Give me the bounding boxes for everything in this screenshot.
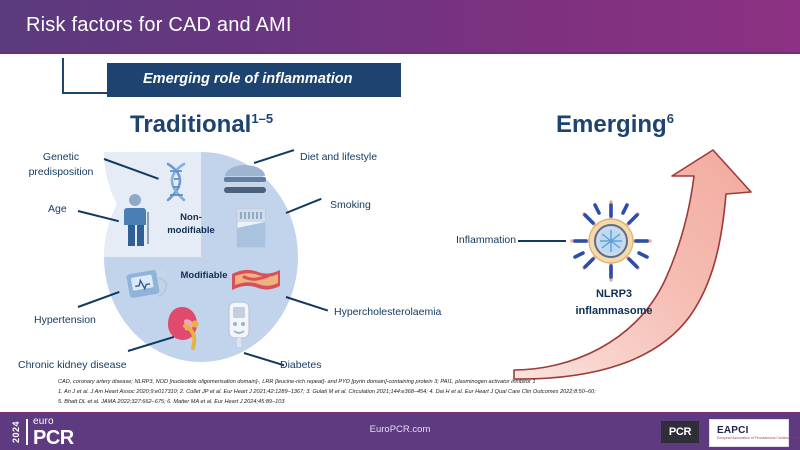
callout-hypertension-label: Hypertension <box>34 314 96 326</box>
callout-diet-and-lifestyle: Diet and lifestyle <box>300 150 377 165</box>
callout-smoking-label: Smoking <box>330 199 371 211</box>
nlrp3-inflammasome-label: NLRP3 inflammasome <box>556 286 672 319</box>
callout-diet-label: Diet and lifestyle <box>300 151 377 163</box>
banner-bracket <box>62 58 110 94</box>
callout-inflammation: Inflammation <box>456 233 516 248</box>
heading-emerging-refs: 6 <box>667 111 674 126</box>
callout-smoking: Smoking <box>330 198 371 213</box>
leader-line-inflammation <box>518 240 566 242</box>
dna-icon <box>156 160 196 208</box>
eapci-sublabel: European Association of Percutaneous Car… <box>717 437 800 440</box>
callout-hypercholesterolaemia: Hypercholesterolaemia <box>334 305 441 320</box>
footnote-abbreviations: CAD, coronary artery disease; NLRP3, NOD… <box>58 378 784 388</box>
callout-inflammation-label: Inflammation <box>456 234 516 246</box>
segment-label-non-modifiable: Non-modifiable <box>156 212 226 238</box>
section-banner: Emerging role of inflammation <box>107 63 401 97</box>
footnote-references-2: 5. Bhatt DL et al. JAMA 2022;327:662–675… <box>58 398 784 408</box>
nlrp3-line-1: NLRP3 <box>556 286 672 303</box>
pcr-logo-small: PCR <box>661 421 699 443</box>
inflammasome-icon <box>566 196 656 286</box>
callout-genetic-label: Geneticpredisposition <box>29 151 94 178</box>
heading-emerging: Emerging6 <box>556 111 674 139</box>
slide-root: Risk factors for CAD and AMI Emerging ro… <box>0 0 800 450</box>
callout-cholesterol-label: Hypercholesterolaemia <box>334 306 441 318</box>
nlrp3-line-2: inflammasome <box>556 303 672 320</box>
title-underline <box>0 52 800 54</box>
glucose-meter-icon <box>224 300 254 350</box>
callout-hypertension: Hypertension <box>34 313 96 328</box>
callout-diabetes-label: Diabetes <box>280 359 321 371</box>
cigarette-pack-icon <box>234 206 268 250</box>
eapci-label: EAPCI <box>717 426 800 437</box>
callout-age: Age <box>48 202 67 217</box>
footnotes: CAD, coronary artery disease; NLRP3, NOD… <box>58 378 784 408</box>
heading-traditional-text: Traditional <box>130 111 251 138</box>
callout-age-label: Age <box>48 203 67 215</box>
callout-genetic-predisposition: Geneticpredisposition <box>18 150 104 180</box>
segment-label-modifiable: Modifiable <box>164 270 244 283</box>
risk-factor-circle: Non-modifiable Modifiable <box>104 152 298 362</box>
heading-traditional-refs: 1–5 <box>251 111 273 126</box>
callout-diabetes: Diabetes <box>280 358 321 373</box>
eapci-logo: EAPCI European Association of Percutaneo… <box>709 419 789 447</box>
callout-ckd-label: Chronic kidney disease <box>18 359 127 371</box>
kidney-icon <box>162 304 204 350</box>
heading-traditional: Traditional1–5 <box>130 111 273 139</box>
page-title: Risk factors for CAD and AMI <box>26 14 292 37</box>
callout-chronic-kidney-disease: Chronic kidney disease <box>18 358 127 373</box>
footnote-references-1: 1. An J et al. J Am Heart Assoc 2020;9:e… <box>58 388 784 398</box>
section-banner-label: Emerging role of inflammation <box>143 71 352 87</box>
heading-emerging-text: Emerging <box>556 111 667 138</box>
elderly-person-icon <box>120 192 154 248</box>
burger-icon <box>222 162 268 196</box>
